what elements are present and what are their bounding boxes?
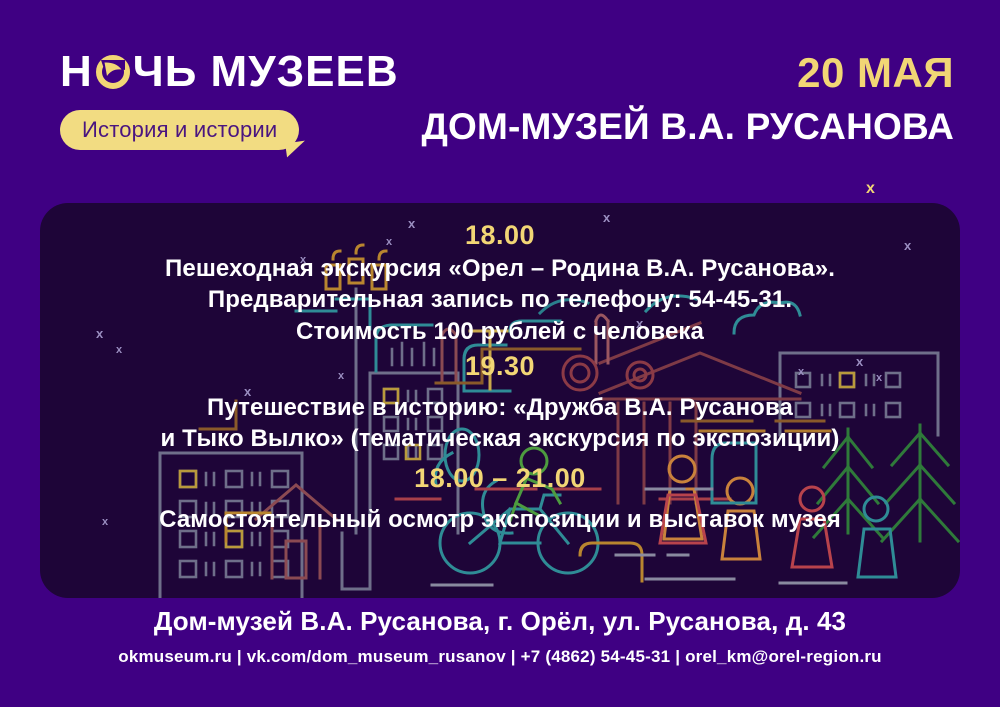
event-date: 20 МАЯ [421,52,954,94]
poster-header: Н ЧЬ МУЗЕЕВ История и истории 20 МАЯ ДОМ… [0,0,1000,190]
logo-text-before: Н [60,50,93,94]
schedule-description-2: Путешествие в историю: «Дружба В.А. Руса… [160,392,839,454]
crescent-moon-icon [94,53,132,91]
poster-footer: Дом-музей В.А. Русанова, г. Орёл, ул. Ру… [0,606,1000,668]
schedule-time-2: 19.30 [465,350,535,384]
venue-name: ДОМ-МУЗЕЙ В.А. РУСАНОВА [421,108,954,145]
tagline-text: История и истории [82,117,277,142]
brand-logo: Н ЧЬ МУЗЕЕВ История и истории [60,48,440,150]
header-event-info: 20 МАЯ ДОМ-МУЗЕЙ В.А. РУСАНОВА [421,52,954,145]
schedule-list: 18.00 Пешеходная экскурсия «Орел – Родин… [40,203,960,598]
poster-root: Н ЧЬ МУЗЕЕВ История и истории 20 МАЯ ДОМ… [0,0,1000,707]
schedule-time-1: 18.00 [465,219,535,253]
schedule-description-1: Пешеходная экскурсия «Орел – Родина В.А.… [165,253,835,348]
schedule-time-3: 18.00 – 21.00 [414,462,586,496]
logo-text-after: ЧЬ МУЗЕЕВ [133,50,399,94]
logo-wordmark: Н ЧЬ МУЗЕЕВ [60,48,440,96]
speech-bubble-tail [286,141,308,158]
footer-address: Дом-музей В.А. Русанова, г. Орёл, ул. Ру… [0,606,1000,637]
tagline-speech-bubble: История и истории [60,110,299,150]
schedule-panel: x x x x x x x x x x x x x x 18.00 Пешехо… [40,203,960,598]
schedule-description-3: Самостоятельный осмотр экспозиции и выст… [159,504,841,536]
footer-contacts: okmuseum.ru | vk.com/dom_museum_rusanov … [0,647,1000,667]
